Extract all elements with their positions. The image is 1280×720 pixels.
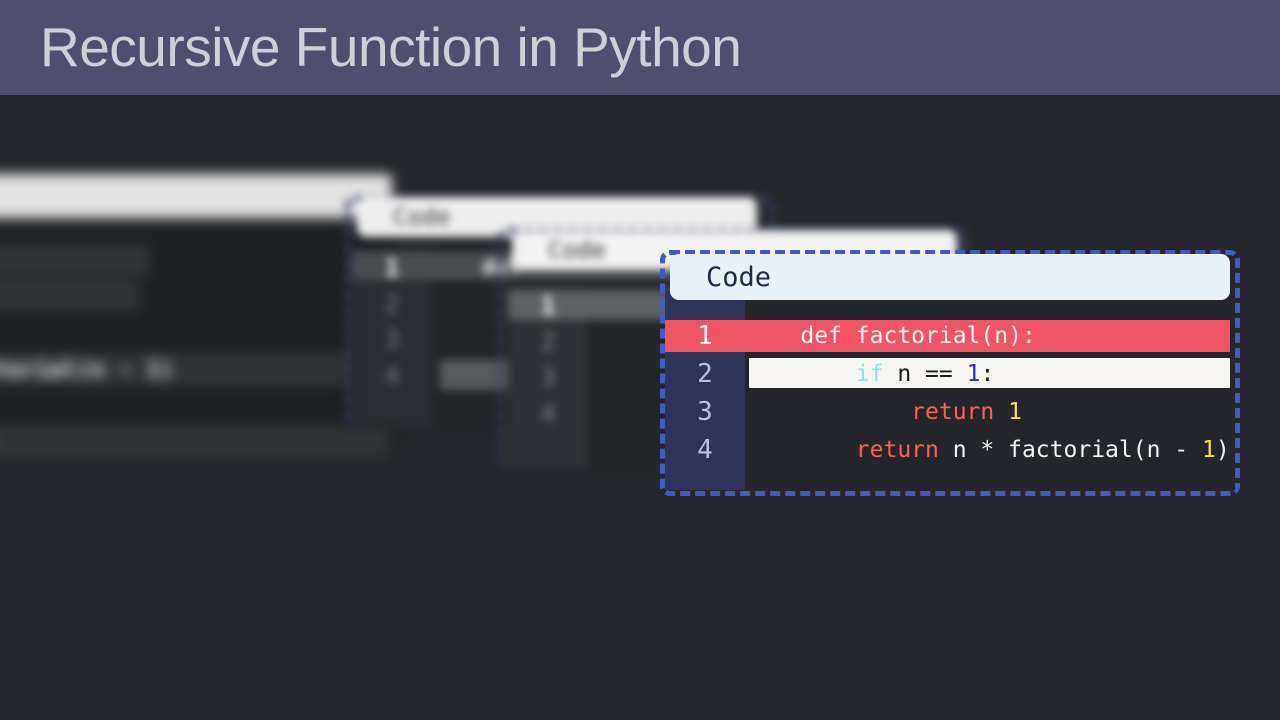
code-line-2[interactable]: if n == 1: xyxy=(745,355,1235,393)
stack-panel-b-header-label: Code xyxy=(357,203,451,231)
stack-panel-a-line-4: return n * factorial(n - 1) xyxy=(0,352,174,388)
code-token: 1 xyxy=(1008,399,1022,425)
code-line-3[interactable]: return 1 xyxy=(745,393,1235,431)
code-token: def factorial(n): xyxy=(745,323,1036,349)
stack-panel-b-line-number-3: 3 xyxy=(352,322,432,358)
code-line-1[interactable]: def factorial(n): xyxy=(745,317,1235,355)
stack-panel-c-header-label: Code xyxy=(512,236,606,264)
code-token: return xyxy=(911,399,994,425)
line-number-4[interactable]: 4 xyxy=(665,431,745,469)
code-token xyxy=(745,361,856,387)
stack-panel-c-line-number-1: 1 xyxy=(508,288,588,324)
stack-panel-c-line-number-3: 3 xyxy=(508,360,588,396)
stack-panel-b-line-number-2: 2 xyxy=(352,286,432,322)
stack-panel-a-band-6 xyxy=(0,424,390,458)
code-token: ) xyxy=(1216,437,1230,463)
active-code-panel-header-label: Code xyxy=(670,262,771,293)
active-code-panel-header: Code xyxy=(670,254,1230,300)
code-line-4[interactable]: return n * factorial(n - 1) xyxy=(745,431,1235,469)
code-token xyxy=(994,399,1008,425)
code-token: 1 xyxy=(1202,437,1216,463)
stack-panel-c-line-number-4: 4 xyxy=(508,396,588,432)
stack-panel-a-band-1 xyxy=(0,244,150,276)
code-token: : xyxy=(980,361,994,387)
stack-panel-a-band-2 xyxy=(0,280,140,312)
line-number-3[interactable]: 3 xyxy=(665,393,745,431)
stack-panel-c-line-number-2: 2 xyxy=(508,324,588,360)
code-token: n * factorial(n - xyxy=(939,437,1202,463)
code-token: 1 xyxy=(967,361,981,387)
slide-title-bar: Recursive Function in Python xyxy=(0,0,1280,95)
code-token: return xyxy=(856,437,939,463)
slide-canvas: Recursive Function in Python factorial(n… xyxy=(0,0,1280,720)
code-token xyxy=(745,399,911,425)
active-code-panel-body: 1 2 3 4 def factorial(n): if n == 1: ret… xyxy=(665,290,1235,490)
stack-panel-b-line-number-1: 1 xyxy=(352,250,432,286)
stack-panel-a-body: factorial(n): n == 1: return 1 return n … xyxy=(0,228,395,460)
code-token xyxy=(745,437,856,463)
stack-panel-a-header xyxy=(0,174,392,218)
code-token: n == xyxy=(883,361,966,387)
stack-panel-b-line-number-4: 4 xyxy=(352,358,432,394)
line-number-2[interactable]: 2 xyxy=(665,355,745,393)
code-token: if xyxy=(856,361,884,387)
line-number-1[interactable]: 1 xyxy=(665,317,745,355)
page-title: Recursive Function in Python xyxy=(40,8,741,86)
